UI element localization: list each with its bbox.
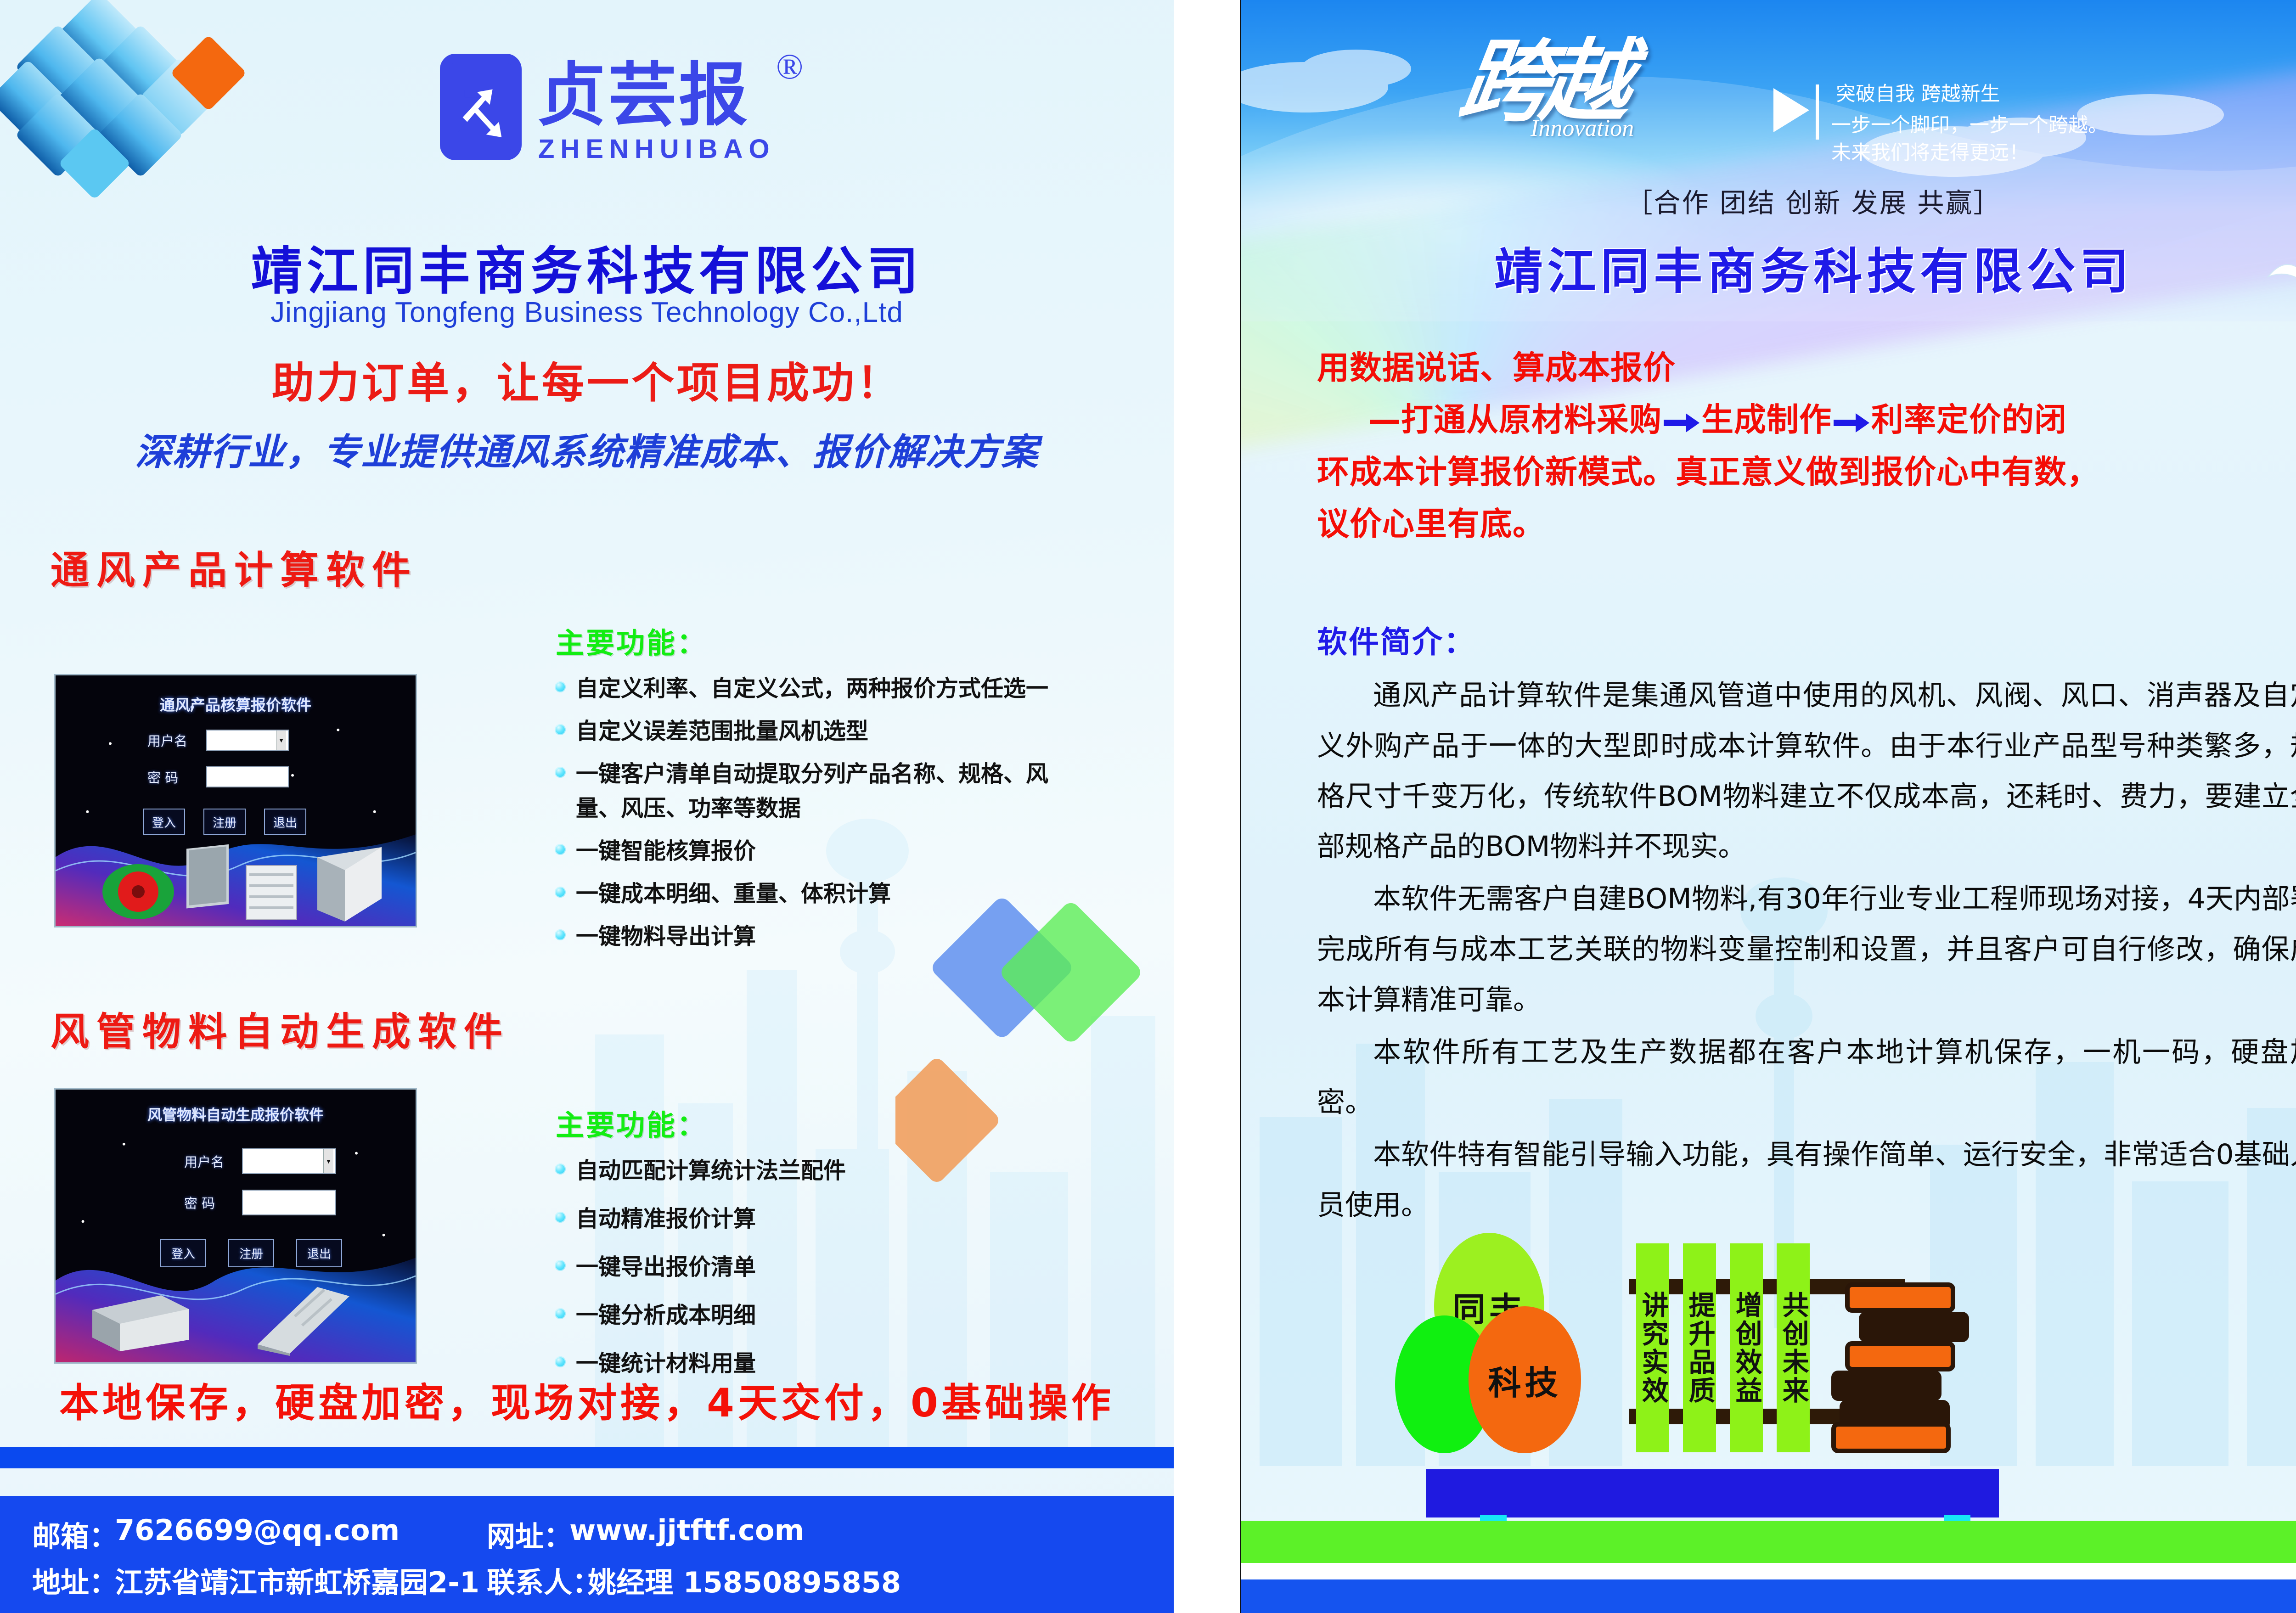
red-body-b: 生成制作 xyxy=(1701,401,1832,438)
password-input[interactable] xyxy=(206,766,289,787)
red-body-c: 利率定价的闭 xyxy=(1871,401,2067,438)
hero-tagline-3: 未来我们将走得更远！ xyxy=(1831,137,2029,165)
password-input[interactable] xyxy=(242,1190,336,1215)
scroll-4: 共创未来 xyxy=(1777,1243,1810,1452)
bottom-tagline: 本地保存，硬盘加密，现场对接，4天交付，0基础操作 xyxy=(0,1371,1174,1428)
slogan-primary: 助力订单，让每一个项目成功！ xyxy=(0,349,1174,410)
username-input[interactable]: ▼ xyxy=(242,1148,336,1174)
password-label: 密 码 xyxy=(184,1193,235,1212)
screenshot-1-title: 通风产品核算报价软件 xyxy=(56,693,416,715)
footer-email-label: 邮箱： xyxy=(32,1513,118,1555)
red-body-a: —打通从原材料采购 xyxy=(1368,401,1662,438)
company-name-cn: 靖江同丰商务科技有限公司 xyxy=(0,230,1174,304)
white-strip xyxy=(1241,1563,2296,1579)
red-headline-line1: 用数据说话、算成本报价 xyxy=(1317,342,2296,394)
ellipse-keji: 科技 xyxy=(1469,1306,1581,1453)
logo-brand-cn: 贞芸报 xyxy=(537,61,749,130)
intro-paragraph: 本软件无需客户自建BOM物料,有30年行业专业工程师现场对接，4天内部署完成所有… xyxy=(1317,874,2296,1025)
right-arrow-icon xyxy=(1834,412,1869,433)
feature-item: 自动匹配计算统计法兰配件 xyxy=(551,1152,1157,1185)
product-images xyxy=(97,816,400,922)
bottom-blue-strip xyxy=(1241,1579,2296,1613)
hero-sky-background: 跨越 Innovation 突破自我 跨越新生 一步一个脚印，一步一个跨越。 未… xyxy=(1241,0,2296,321)
play-triangle-icon xyxy=(1772,82,1822,155)
section-title-2: 风管物料自动生成软件 xyxy=(51,1001,510,1057)
scroll-3-text: 增创效益 xyxy=(1733,1291,1760,1405)
feature-item: 自定义误差范围批量风机选型 xyxy=(551,713,1157,746)
username-label: 用户名 xyxy=(147,731,198,750)
features-heading-1: 主要功能： xyxy=(556,620,707,661)
intro-paragraph: 通风产品计算软件是集通风管道中使用的风机、风阀、风口、消声器及自定义外购产品于一… xyxy=(1317,670,2296,872)
screenshot-2-password-row: 密 码 xyxy=(184,1190,336,1215)
screenshot-1-username-row: 用户名 ▼ xyxy=(147,730,289,751)
footer-address-value: 江苏省靖江市新虹桥嘉园2-1 xyxy=(115,1559,479,1601)
duct-product-images xyxy=(74,1259,395,1356)
footer-address-label: 地址： xyxy=(32,1559,118,1601)
intro-paragraph: 本软件所有工艺及生产数据都在客户本地计算机保存，一机一码，硬盘加密。 xyxy=(1317,1027,2296,1128)
slogan-secondary: 深耕行业，专业提供通风系统精准成本、报价解决方案 xyxy=(0,422,1174,476)
footer-contact-block: 邮箱： 7626699@qq.com 网址： www.jjtftf.com 地址… xyxy=(0,1496,1174,1613)
scroll-3: 增创效益 xyxy=(1730,1243,1763,1452)
chevron-down-icon[interactable]: ▼ xyxy=(276,731,286,750)
logo-mark-icon xyxy=(440,54,522,160)
feature-item: 自定义利率、自定义公式，两种报价方式任选一 xyxy=(551,670,1157,703)
hero-tagline-1: 突破自我 跨越新生 xyxy=(1836,78,2000,107)
footer-website-label: 网址： xyxy=(487,1513,572,1555)
password-label: 密 码 xyxy=(147,767,198,787)
footer-contact-value[interactable]: 姚经理 15850895858 xyxy=(588,1559,901,1601)
scroll-1: 讲究实效 xyxy=(1636,1243,1669,1452)
red-headline-block: 用数据说话、算成本报价 —打通从原材料采购生成制作利率定价的闭 环成本计算报价新… xyxy=(1317,342,2296,551)
bench-top xyxy=(1426,1469,1999,1517)
registered-mark-icon: ® xyxy=(776,46,803,87)
feature-item: 一键导出报价清单 xyxy=(551,1249,1157,1281)
scroll-2-text: 提升品质 xyxy=(1686,1291,1713,1405)
scroll-4-text: 共创未来 xyxy=(1779,1291,1806,1405)
scroll-2: 提升品质 xyxy=(1683,1243,1716,1452)
diamond-mosaic-decoration xyxy=(0,0,285,230)
screenshot-1-password-row: 密 码 xyxy=(147,766,289,787)
hero-headline-en: Innovation xyxy=(1531,115,1634,142)
footer-contact-label: 联系人： xyxy=(487,1559,601,1601)
hero-company-name: 靖江同丰商务科技有限公司 xyxy=(1241,232,2296,303)
red-headline-line3: 环成本计算报价新模式。真正意义做到报价心中有数， xyxy=(1317,446,2296,498)
scroll-1-text: 讲究实效 xyxy=(1639,1291,1666,1405)
left-panel: 贞芸报 ® ZHENHUIBAO 靖江同丰商务科技有限公司 Jingjiang … xyxy=(0,0,1174,1613)
features-heading-2: 主要功能： xyxy=(556,1102,707,1143)
right-panel: 跨越 Innovation 突破自我 跨越新生 一步一个脚印，一步一个跨越。 未… xyxy=(1240,0,2296,1613)
book-stack-icon xyxy=(1829,1281,1994,1456)
feature-item: 自动精准报价计算 xyxy=(551,1201,1157,1233)
brand-logo: 贞芸报 ® ZHENHUIBAO xyxy=(413,25,790,158)
intro-heading: 软件简介： xyxy=(1317,618,1475,662)
footer-email-value[interactable]: 7626699@qq.com xyxy=(115,1513,400,1547)
username-input[interactable]: ▼ xyxy=(206,730,289,751)
grass-strip xyxy=(1241,1521,2296,1563)
feature-item: 一键智能核算报价 xyxy=(551,833,1157,866)
flyer-page: 贞芸报 ® ZHENHUIBAO 靖江同丰商务科技有限公司 Jingjiang … xyxy=(0,0,2296,1613)
intro-body: 通风产品计算软件是集通风管道中使用的风机、风阀、风口、消声器及自定义外购产品于一… xyxy=(1317,670,2296,1232)
hero-tagline-2: 一步一个脚印，一步一个跨越。 xyxy=(1831,109,2108,138)
red-headline-line4: 议价心里有底。 xyxy=(1317,498,2296,550)
feature-item: 一键客户清单自动提取分列产品名称、规格、风 xyxy=(551,756,1157,788)
footer-website-value[interactable]: www.jjtftf.com xyxy=(569,1513,804,1547)
software-screenshot-2: 风管物料自动生成报价软件 用户名 ▼ 密 码 登入 注册 退出 xyxy=(54,1088,417,1364)
hero-motto: ［合作 团结 创新 发展 共赢］ xyxy=(1241,181,2296,220)
feature-item-continued: 量、风压、功率等数据 xyxy=(551,790,1157,823)
divider-bar-blue xyxy=(0,1447,1174,1468)
right-arrow-icon xyxy=(1664,412,1699,433)
chevron-down-icon[interactable]: ▼ xyxy=(323,1149,333,1173)
bottom-illustration: 同丰 科技 讲究实效 提升品质 增创效益 共创未来 xyxy=(1241,1194,2296,1543)
features-list-2: 自动匹配计算统计法兰配件 自动精准报价计算 一键导出报价清单 一键分析成本明细 … xyxy=(551,1152,1157,1378)
username-label: 用户名 xyxy=(184,1152,235,1171)
company-name-en: Jingjiang Tongfeng Business Technology C… xyxy=(0,296,1174,329)
logo-brand-pinyin: ZHENHUIBAO xyxy=(538,134,776,164)
section-title-1: 通风产品计算软件 xyxy=(51,540,418,595)
z-arrow-icon xyxy=(449,63,512,151)
screenshot-2-username-row: 用户名 ▼ xyxy=(184,1148,336,1174)
seagull-icon xyxy=(2265,250,2296,301)
red-headline-line2: —打通从原材料采购生成制作利率定价的闭 xyxy=(1317,394,2296,446)
software-screenshot-1: 通风产品核算报价软件 用户名 ▼ 密 码 登入 注册 退出 xyxy=(54,674,417,927)
screenshot-2-title: 风管物料自动生成报价软件 xyxy=(56,1103,416,1124)
feature-item: 一键分析成本明细 xyxy=(551,1297,1157,1330)
